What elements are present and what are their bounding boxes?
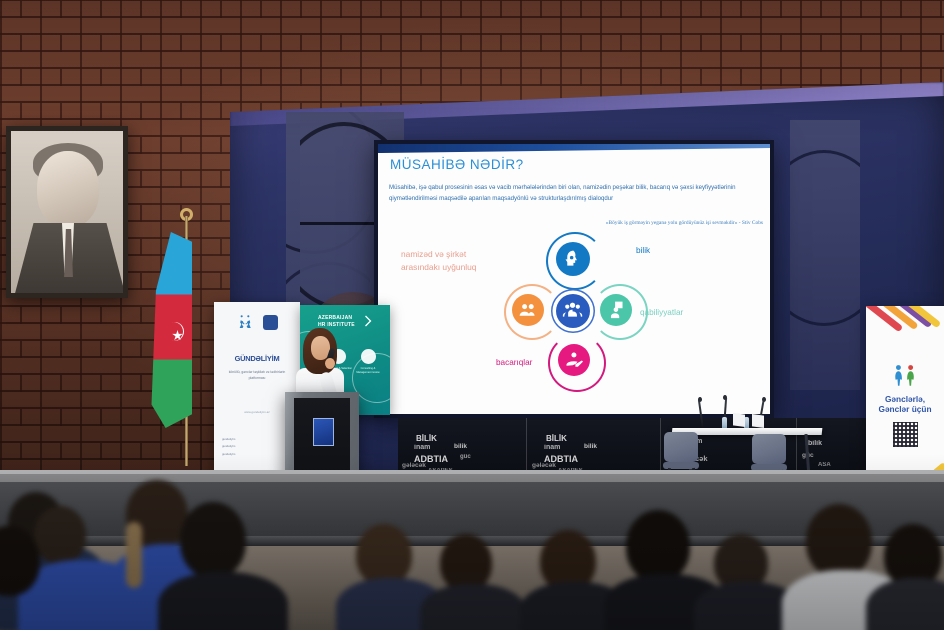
desk-flag-icon <box>733 413 745 427</box>
portrait-face <box>37 151 99 227</box>
skirt-word: gələcək <box>402 462 426 469</box>
qr-code-icon <box>893 422 918 447</box>
diagram-node-qabiliyyatlar <box>600 294 632 326</box>
social-linkedin: gundeliyim <box>222 451 292 458</box>
diagram-label-bacariqlar: bacarıqlar <box>496 358 532 367</box>
uygunluq-line-2: arasındakı uyğunluq <box>401 261 476 274</box>
rollup-social-list: gundeliyim gundeliyim gundeliyim <box>222 436 292 458</box>
skirt-word: inam <box>414 444 430 451</box>
skirt-word: güc <box>460 454 471 460</box>
skirt-word: gələcək <box>532 462 556 469</box>
wall-portrait-frame <box>6 126 128 298</box>
projection-screen: MÜSAHİBƏ NƏDİR? Müsahibə, işə qabul pros… <box>378 144 770 414</box>
microphone-head-icon <box>698 397 702 402</box>
screenshot-root: MÜSAHİBƏ NƏDİR? Müsahibə, işə qabul pros… <box>0 0 944 630</box>
audience-head <box>806 504 872 578</box>
desk-flag-icon <box>752 414 764 428</box>
diagram-label-bilik: bilik <box>636 246 650 255</box>
audience-head <box>34 506 86 564</box>
right-banner-line2: Gənclər üçün <box>870 404 940 414</box>
ministry-logo-icon <box>263 315 278 330</box>
microphone-head-icon <box>762 397 766 402</box>
slide-quote: «Böyük iş görməyin yeganə yolu gördüyünü… <box>508 220 763 226</box>
microphone-head-icon <box>723 395 727 400</box>
right-banner-line1: Gənclərlə, <box>870 394 940 404</box>
competency-diagram: bilik qabiliyyatlar bacarıqlar namizəd v… <box>378 240 770 412</box>
diagram-label-uygunluq: namizəd və şirkət arasındakı uyğunluq <box>401 248 476 274</box>
slide-top-accent-bar <box>378 144 770 153</box>
social-facebook: gundeliyim <box>222 436 292 443</box>
decor-panel-far-right <box>790 120 860 390</box>
audience-shoulders <box>158 572 288 630</box>
heydar-aliyev-portrait <box>11 131 123 293</box>
projection-screen-frame: MÜSAHİBƏ NƏDİR? Müsahibə, işə qabul pros… <box>374 140 774 418</box>
audience-head <box>626 510 690 582</box>
skirt-word: bilik <box>454 443 467 450</box>
audience-ponytail <box>126 522 142 588</box>
audience-group <box>0 470 944 630</box>
chevron-right-icon <box>362 314 374 328</box>
diagram-node-uygunluq <box>512 294 544 326</box>
consulting-icon <box>361 349 376 364</box>
rollup-title: GÜNDƏLİYİM <box>220 354 294 363</box>
speaker-hand <box>325 358 335 369</box>
podium-emblem-plaque <box>313 418 334 446</box>
rollup-url: www.gundeliyim.az <box>222 410 292 414</box>
rollup-subtitle: könüllü, gənclər təşkilatı və tədbirləri… <box>222 370 292 382</box>
hr-banner-title-line1: AZERBAIJAN <box>318 315 355 322</box>
diagram-label-qabiliyyatlar: qabiliyyatlar <box>640 308 683 317</box>
running-figures-icon <box>237 313 253 331</box>
skirt-word: bilik <box>808 440 822 447</box>
social-instagram: gundeliyim <box>222 443 292 450</box>
youth-figures-icon <box>890 362 920 388</box>
skirt-word: BİLİK <box>416 434 437 443</box>
audience-shoulders <box>420 584 526 630</box>
uygunluq-line-1: namizəd və şirkət <box>401 248 476 261</box>
slide-title: MÜSAHİBƏ NƏDİR? <box>390 157 524 172</box>
skirt-word: ASA <box>818 462 831 468</box>
diagram-node-bacariqlar <box>558 344 590 376</box>
diagram-node-center <box>556 294 590 328</box>
rollup-logo-row <box>222 310 292 334</box>
service-label-2: Consulting & Management review <box>353 367 383 375</box>
right-banner-title: Gənclərlə, Gənclər üçün <box>870 394 940 415</box>
skirt-word: BİLİK <box>546 434 567 443</box>
slide-body-text: Müsahibə, işə qabul prosesinin əsas və v… <box>389 182 764 205</box>
skirt-word: inam <box>544 444 560 451</box>
audience-head <box>180 502 246 578</box>
skirt-word: bilik <box>584 443 597 450</box>
diagram-node-bilik <box>556 242 590 276</box>
audience-head <box>356 524 412 586</box>
